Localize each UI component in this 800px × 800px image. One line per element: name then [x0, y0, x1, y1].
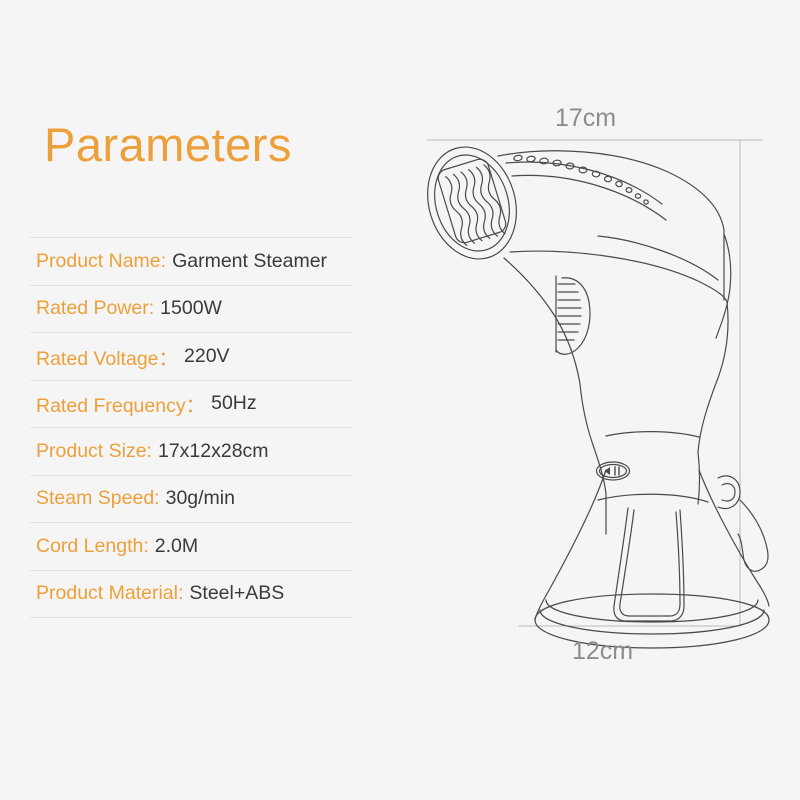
tank-shoulder-seam — [598, 494, 708, 502]
spec-label-product-name: Product Name: — [30, 250, 166, 273]
tank-right-edge — [699, 470, 769, 606]
spec-label-rated-frequency: Rated Frequency： — [30, 389, 205, 418]
spec-label-steam-speed: Steam Speed: — [30, 487, 160, 510]
spec-value-cord-length: 2.0M — [149, 535, 198, 558]
product-illustration-area: 17cm 28cm 12cm — [400, 0, 800, 800]
tank-neck-right — [698, 452, 700, 504]
page-title: Parameters — [44, 121, 292, 168]
table-row: Product Name: Garment Steamer — [30, 237, 352, 285]
spec-value-product-name: Garment Steamer — [166, 250, 327, 273]
tank-front-panel-inner — [620, 510, 680, 616]
product-parameters-page: Parameters Product Name: Garment Steamer… — [0, 0, 800, 800]
spec-label-rated-voltage: Rated Voltage： — [30, 342, 178, 371]
handle-back-edge — [698, 302, 728, 452]
table-row: Rated Voltage： 220V — [30, 332, 352, 380]
spec-value-rated-voltage: 220V — [178, 345, 230, 368]
steam-plate-grille — [436, 157, 509, 248]
spec-label-product-size: Product Size: — [30, 440, 152, 463]
specifications-panel: Parameters Product Name: Garment Steamer… — [0, 0, 400, 800]
table-row: Rated Frequency： 50Hz — [30, 380, 352, 428]
spec-value-rated-power: 1500W — [154, 297, 222, 320]
body-mid-seam — [510, 251, 727, 302]
spec-label-product-material: Product Material: — [30, 582, 183, 605]
spec-value-steam-speed: 30g/min — [160, 487, 235, 510]
tank-left-edge — [535, 470, 606, 620]
cord-port-detail — [718, 476, 740, 509]
ribbed-trigger — [556, 276, 590, 354]
head-underside-edge — [504, 258, 580, 384]
dimension-guides — [427, 140, 763, 626]
dimension-label-width: 17cm — [555, 104, 616, 133]
table-row: Rated Power: 1500W — [30, 285, 352, 333]
tank-front-panel — [614, 508, 684, 621]
spec-label-cord-length: Cord Length: — [30, 535, 149, 558]
table-row: Product Material: Steel+ABS — [30, 570, 352, 619]
tank-neck-collar — [606, 432, 699, 437]
table-row: Product Size: 17x12x28cm — [30, 427, 352, 475]
table-row: Steam Speed: 30g/min — [30, 475, 352, 523]
dimension-label-depth: 12cm — [572, 637, 633, 666]
spec-value-product-size: 17x12x28cm — [152, 440, 269, 463]
base-foot-ring-inner — [546, 600, 758, 622]
spec-value-product-material: Steel+ABS — [183, 582, 284, 605]
spec-label-rated-power: Rated Power: — [30, 297, 154, 320]
vent-channel-line-lower — [512, 175, 666, 220]
spec-value-rated-frequency: 50Hz — [205, 392, 257, 415]
table-row: Cord Length: 2.0M — [30, 522, 352, 570]
cord-stub — [738, 500, 768, 571]
specifications-table: Product Name: Garment Steamer Rated Powe… — [30, 237, 352, 618]
